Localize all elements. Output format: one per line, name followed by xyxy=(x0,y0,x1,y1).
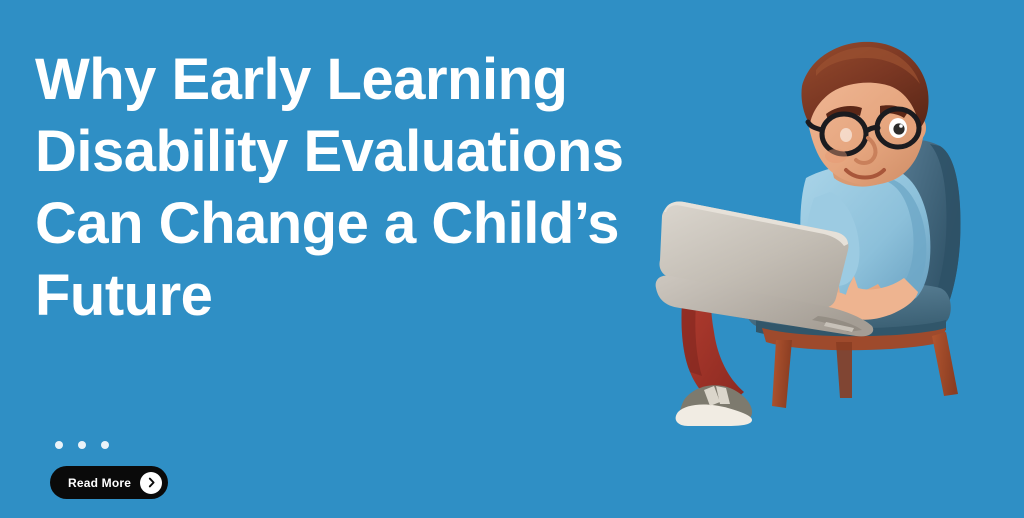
dot-icon xyxy=(101,441,109,449)
dot-icon xyxy=(55,441,63,449)
chevron-right-icon xyxy=(140,472,162,494)
read-more-button[interactable]: Read More xyxy=(50,466,168,499)
page-title: Why Early Learning Disability Evaluation… xyxy=(35,44,635,332)
man-using-laptop-in-armchair-illustration xyxy=(640,30,1024,430)
promo-banner: Why Early Learning Disability Evaluation… xyxy=(0,0,1024,518)
dot-icon xyxy=(78,441,86,449)
read-more-label: Read More xyxy=(68,476,131,490)
banner-content: Why Early Learning Disability Evaluation… xyxy=(35,44,635,332)
decorative-dots xyxy=(55,441,109,449)
